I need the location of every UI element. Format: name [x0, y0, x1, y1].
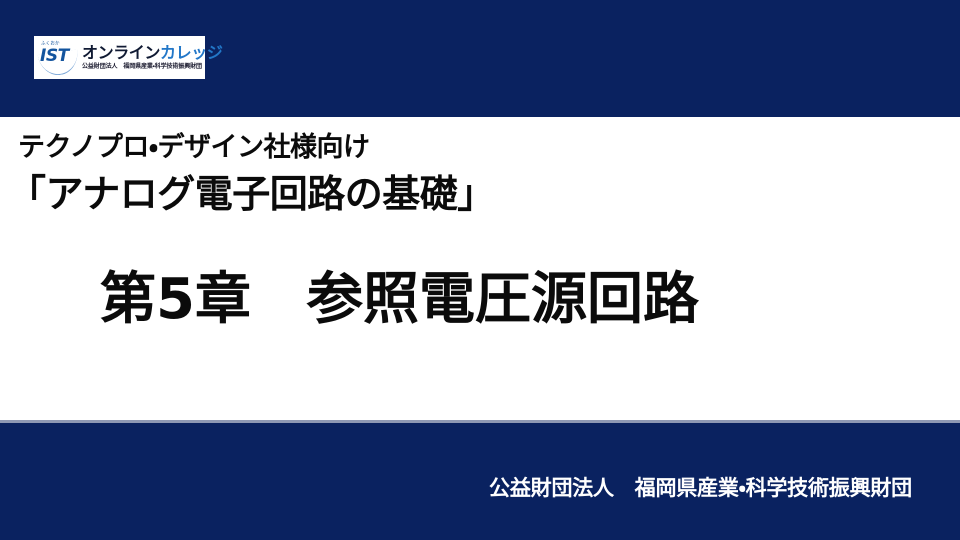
footer-organization: 公益財団法人 福岡県産業・科学技術振興財団: [489, 475, 912, 501]
logo-swoosh-icon: [38, 49, 81, 77]
organization-logo: ふくおか IST オンラインカレッジ 公益財団法人 福岡県産業・科学技術振興財団: [34, 36, 205, 79]
course-title: 「アナログ電子回路の基礎」: [8, 170, 495, 218]
title-slide: ふくおか IST オンラインカレッジ 公益財団法人 福岡県産業・科学技術振興財団…: [0, 0, 960, 540]
logo-subtitle: 公益財団法人 福岡県産業・科学技術振興財団: [82, 63, 222, 71]
ist-logo-icon: ふくおか IST: [39, 39, 79, 77]
slide-body: テクノプロ・デザイン社様向け 「アナログ電子回路の基礎」 第5章 参照電圧源回路: [0, 117, 960, 420]
logo-brand-name: オンラインカレッジ: [82, 44, 222, 62]
logo-brand-dark-part: オンライン: [82, 43, 160, 62]
audience-label: テクノプロ・デザイン社様向け: [18, 131, 370, 165]
logo-wordmark: オンラインカレッジ 公益財団法人 福岡県産業・科学技術振興財団: [79, 44, 222, 71]
chapter-title: 第5章 参照電圧源回路: [100, 265, 699, 335]
bottom-navy-band: 公益財団法人 福岡県産業・科学技術振興財団: [0, 423, 960, 540]
logo-brand-blue-part: カレッジ: [160, 43, 222, 62]
